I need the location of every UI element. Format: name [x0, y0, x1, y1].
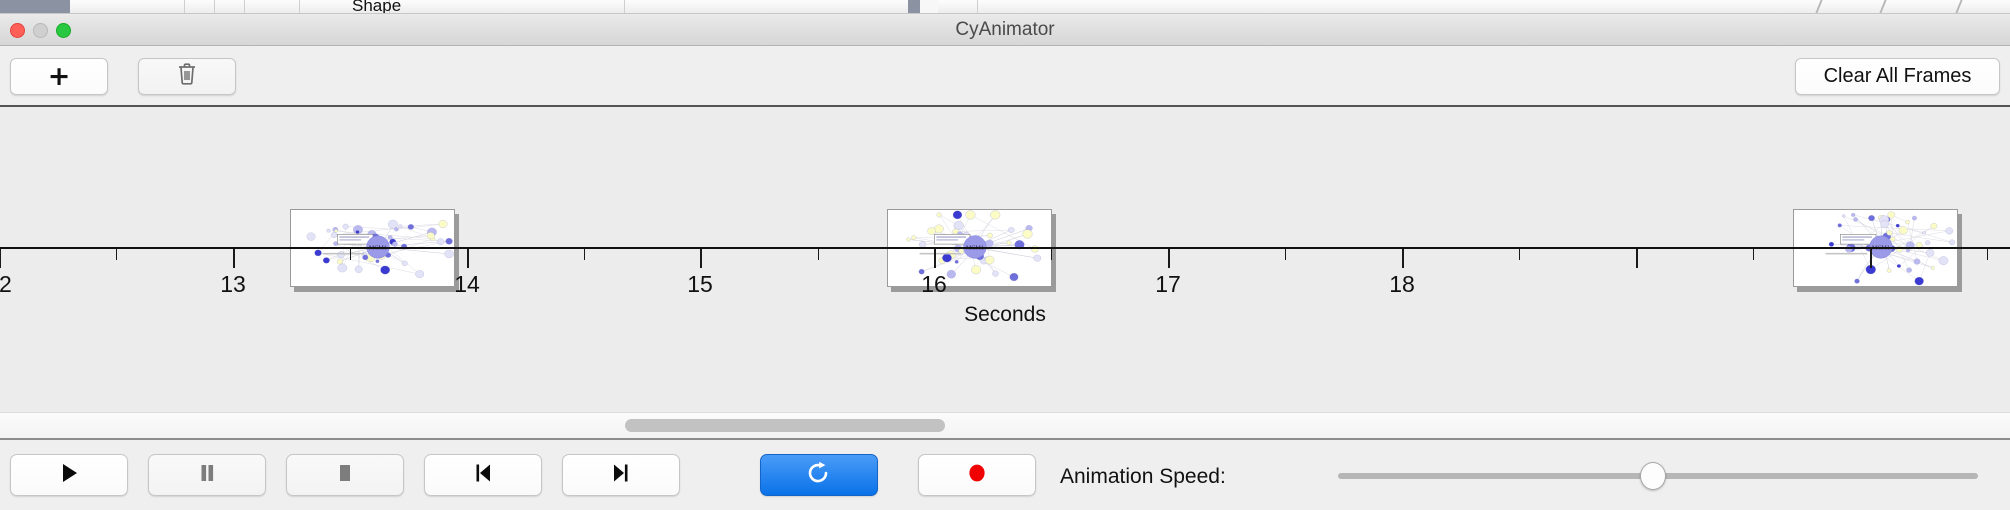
ruler-tick-label: 14: [454, 271, 480, 298]
background-window-strip: Shape: [0, 0, 2010, 13]
ruler-tick-label: 16: [921, 271, 947, 298]
ruler-tick-major: [700, 249, 702, 268]
ruler-tick-minor: [116, 249, 117, 260]
plus-icon: +: [48, 63, 71, 90]
animation-speed-slider-thumb[interactable]: [1640, 462, 1666, 490]
stop-icon: [332, 460, 358, 491]
background-window-label: Shape: [352, 0, 401, 13]
ruler-tick-minor: [584, 249, 585, 260]
ruler-axis-line: [0, 247, 2010, 249]
skip-back-icon: [470, 460, 496, 491]
ruler-tick-major: [1402, 249, 1404, 268]
ruler-tick-minor: [1987, 249, 1988, 260]
ruler-tick-major: [233, 249, 235, 268]
ruler-tick-minor: [1519, 249, 1520, 260]
animation-speed-label: Animation Speed:: [1060, 465, 1226, 489]
record-button[interactable]: [918, 454, 1036, 496]
ruler-tick-minor: [350, 249, 351, 260]
pause-button[interactable]: [148, 454, 266, 496]
pause-icon: [194, 460, 220, 491]
horizontal-scrollbar-thumb[interactable]: [625, 419, 945, 432]
loop-button[interactable]: [760, 454, 878, 496]
ruler-tick-minor: [1870, 249, 1871, 260]
previous-button[interactable]: [424, 454, 542, 496]
ruler-tick-label: 13: [220, 271, 246, 298]
play-icon: [56, 460, 82, 491]
delete-frame-button[interactable]: [138, 58, 236, 95]
ruler-tick-label: 15: [687, 271, 713, 298]
stop-button[interactable]: [286, 454, 404, 496]
ruler-tick-major: [0, 249, 1, 268]
cyanimator-screen: Shape CyAnimator +: [0, 0, 2010, 510]
timeline-panel[interactable]: MCM1MCM1MCM1 12131415161718 Seconds: [0, 107, 2010, 412]
skip-fwd-icon: [608, 460, 634, 491]
ruler-tick-minor: [1753, 249, 1754, 260]
add-frame-button[interactable]: +: [10, 58, 108, 95]
ruler-tick-minor: [1636, 249, 1637, 260]
ruler-tick-major: [1168, 249, 1170, 268]
loop-icon: [806, 460, 832, 491]
window-title: CyAnimator: [0, 19, 2010, 41]
horizontal-scrollbar[interactable]: [0, 412, 2010, 438]
playback-controls: Animation Speed:: [0, 438, 2010, 510]
ruler-axis-title: Seconds: [0, 303, 2010, 327]
clear-all-frames-button[interactable]: Clear All Frames: [1795, 58, 2000, 95]
ruler-tick-minor: [1051, 249, 1052, 260]
next-button[interactable]: [562, 454, 680, 496]
record-icon: [964, 460, 990, 491]
trash-icon: [176, 62, 198, 91]
ruler-tick-label: 18: [1389, 271, 1415, 298]
cyanimator-window: CyAnimator + Clear All Frames: [0, 13, 2010, 510]
ruler-tick-label: 12: [0, 271, 12, 298]
ruler-tick-major: [934, 249, 936, 268]
ruler-tick-minor: [1285, 249, 1286, 260]
frame-toolbar: + Clear All Frames: [0, 46, 2010, 107]
window-titlebar[interactable]: CyAnimator: [0, 14, 2010, 46]
play-button[interactable]: [10, 454, 128, 496]
clear-all-frames-label: Clear All Frames: [1824, 65, 1972, 88]
ruler-tick-label: 17: [1155, 271, 1181, 298]
ruler-tick-minor: [818, 249, 819, 260]
timeline-ruler[interactable]: 12131415161718 Seconds: [0, 247, 2010, 347]
ruler-tick-major: [467, 249, 469, 268]
